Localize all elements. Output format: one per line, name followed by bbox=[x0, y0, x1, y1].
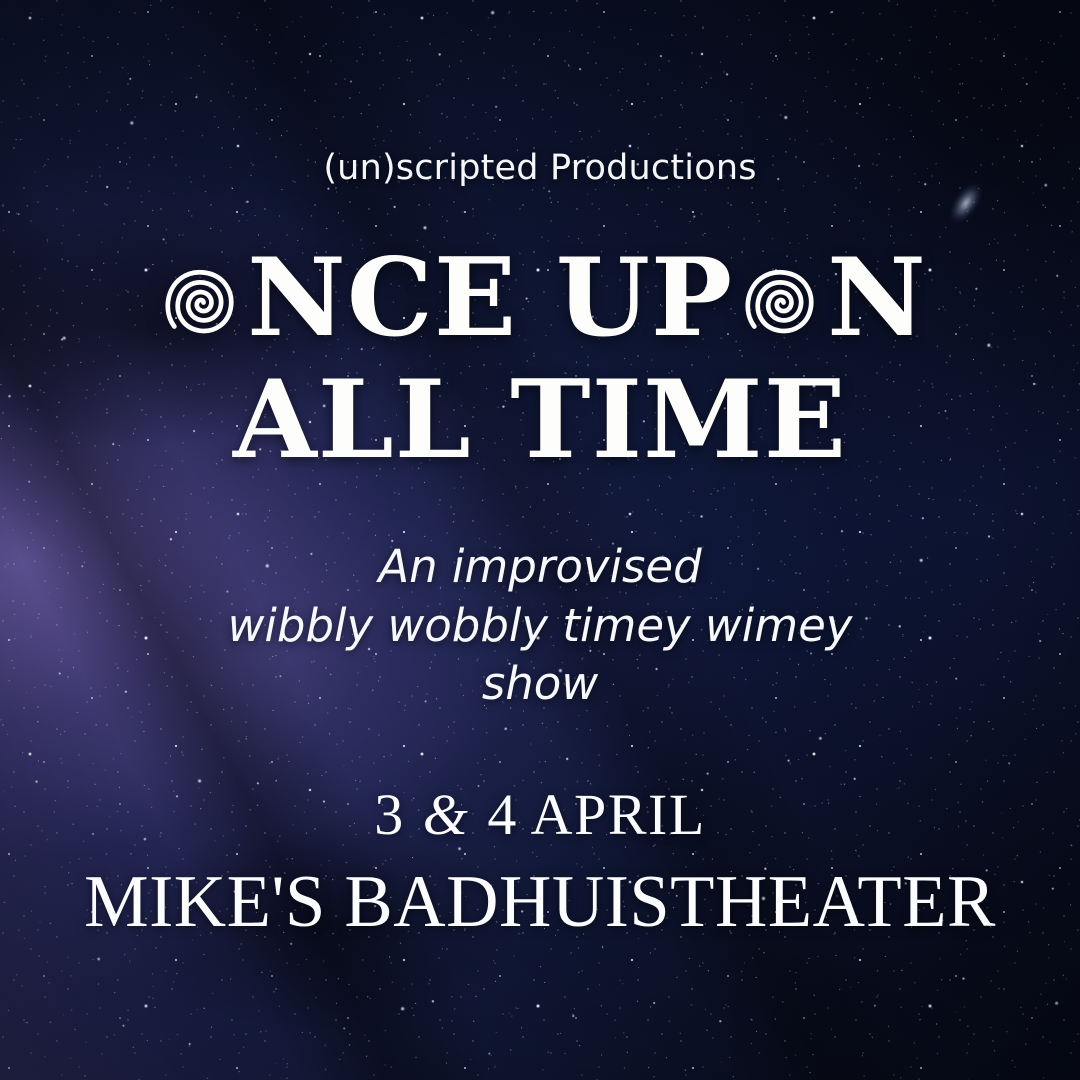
show-dates: 3 & 4 APRIL bbox=[0, 781, 1080, 848]
show-title-line-1-part-a: NCE UP bbox=[247, 246, 733, 352]
show-title-line-1: NCE UP N bbox=[0, 246, 1080, 352]
company-name: (un)scripted Productions bbox=[0, 148, 1080, 188]
date-day-first: 3 bbox=[374, 782, 405, 847]
tagline-line-3: show bbox=[0, 655, 1080, 714]
show-title: NCE UP N ALL TIME bbox=[0, 246, 1080, 474]
date-day-second: 4 bbox=[487, 782, 518, 847]
tagline-line-1: An improvised bbox=[0, 538, 1080, 597]
show-title-line-2: ALL TIME bbox=[0, 368, 1080, 474]
spiral-o-icon-1 bbox=[155, 257, 246, 348]
venue-name: MIKE'S BADHUISTHEATER bbox=[11, 860, 1069, 945]
show-tagline: An improvised wibbly wobbly timey wimey … bbox=[0, 538, 1080, 714]
spiral-o-icon-2 bbox=[735, 257, 826, 348]
date-ampersand: & bbox=[421, 782, 472, 847]
date-month: APRIL bbox=[531, 782, 706, 847]
poster-content: (un)scripted Productions NCE UP N ALL TI… bbox=[0, 0, 1080, 1080]
tagline-line-2: wibbly wobbly timey wimey bbox=[0, 597, 1080, 656]
poster-canvas: (un)scripted Productions NCE UP N ALL TI… bbox=[0, 0, 1080, 1080]
show-title-line-1-part-b: N bbox=[827, 246, 927, 352]
